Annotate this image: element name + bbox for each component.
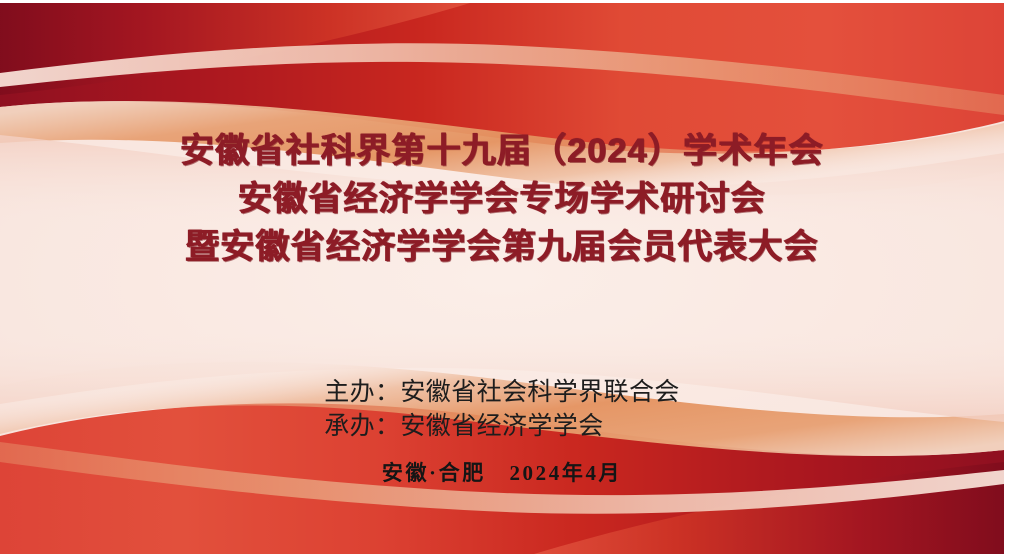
host-line: 主办：安徽省社会科学界联合会 xyxy=(324,375,680,409)
organizer-line: 承办：安徽省经济学学会 xyxy=(324,409,680,443)
title-line-3: 暨安徽省经济学学会第九届会员代表大会 xyxy=(180,226,824,268)
organizer-block: 主办：安徽省社会科学界联合会 承办：安徽省经济学学会 xyxy=(324,375,680,443)
conference-title-slide: 安徽省社科界第十九届（2024）学术年会 安徽省经济学学会专场学术研讨会 暨安徽… xyxy=(0,0,1010,558)
location-date-footer: 安徽·合肥 2024年4月 xyxy=(382,457,622,487)
slide-stage: 安徽省社科界第十九届（2024）学术年会 安徽省经济学学会专场学术研讨会 暨安徽… xyxy=(0,3,1004,554)
title-line-2: 安徽省经济学学会专场学术研讨会 xyxy=(180,178,824,220)
title-line-1: 安徽省社科界第十九届（2024）学术年会 xyxy=(180,130,824,172)
slide-content: 安徽省社科界第十九届（2024）学术年会 安徽省经济学学会专场学术研讨会 暨安徽… xyxy=(0,3,1004,554)
bottom-white-edge xyxy=(0,554,1010,558)
conference-title: 安徽省社科界第十九届（2024）学术年会 安徽省经济学学会专场学术研讨会 暨安徽… xyxy=(180,130,824,268)
top-white-edge xyxy=(0,0,1010,3)
right-white-edge xyxy=(1004,0,1010,558)
